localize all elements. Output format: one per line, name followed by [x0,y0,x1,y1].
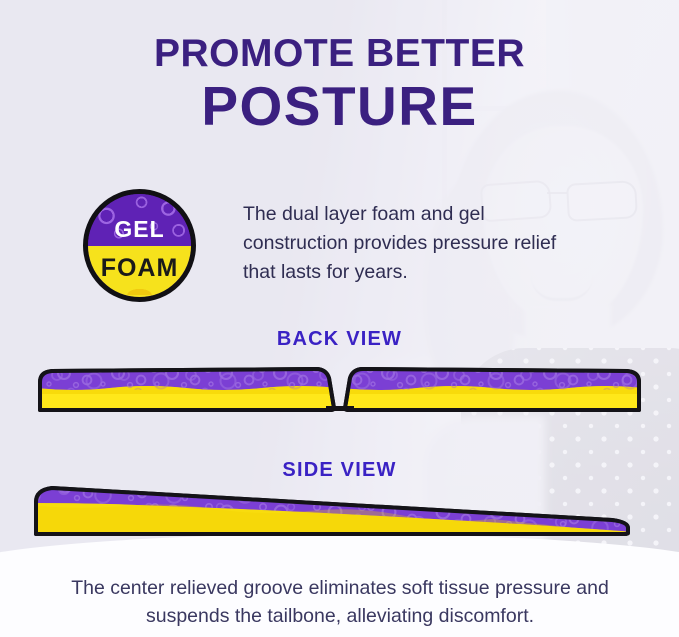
page-title: PROMOTE BETTER POSTURE [0,34,679,136]
content-layer: PROMOTE BETTER POSTURE GEL FOAM The dual… [0,0,679,637]
headline-line-2: POSTURE [0,77,679,136]
back-view-diagram [0,364,679,420]
back-view-right-half [339,366,645,410]
side-view-cross-section [0,476,679,544]
gel-foam-badge: GEL FOAM [83,189,196,302]
promote-better-posture-infographic: PROMOTE BETTER POSTURE GEL FOAM The dual… [0,0,679,637]
badge-foam-label: FOAM [88,254,191,283]
side-view-diagram [0,476,679,544]
bottom-caption: The center relieved groove eliminates so… [38,574,642,631]
badge-gel-label: GEL [88,216,191,243]
back-view-label: BACK VIEW [0,328,679,351]
lead-paragraph: The dual layer foam and gel construction… [243,200,573,287]
headline-line-1: PROMOTE BETTER [0,34,679,75]
back-view-left-half [36,366,342,410]
back-view-cross-section [0,364,679,420]
center-groove [326,406,354,411]
